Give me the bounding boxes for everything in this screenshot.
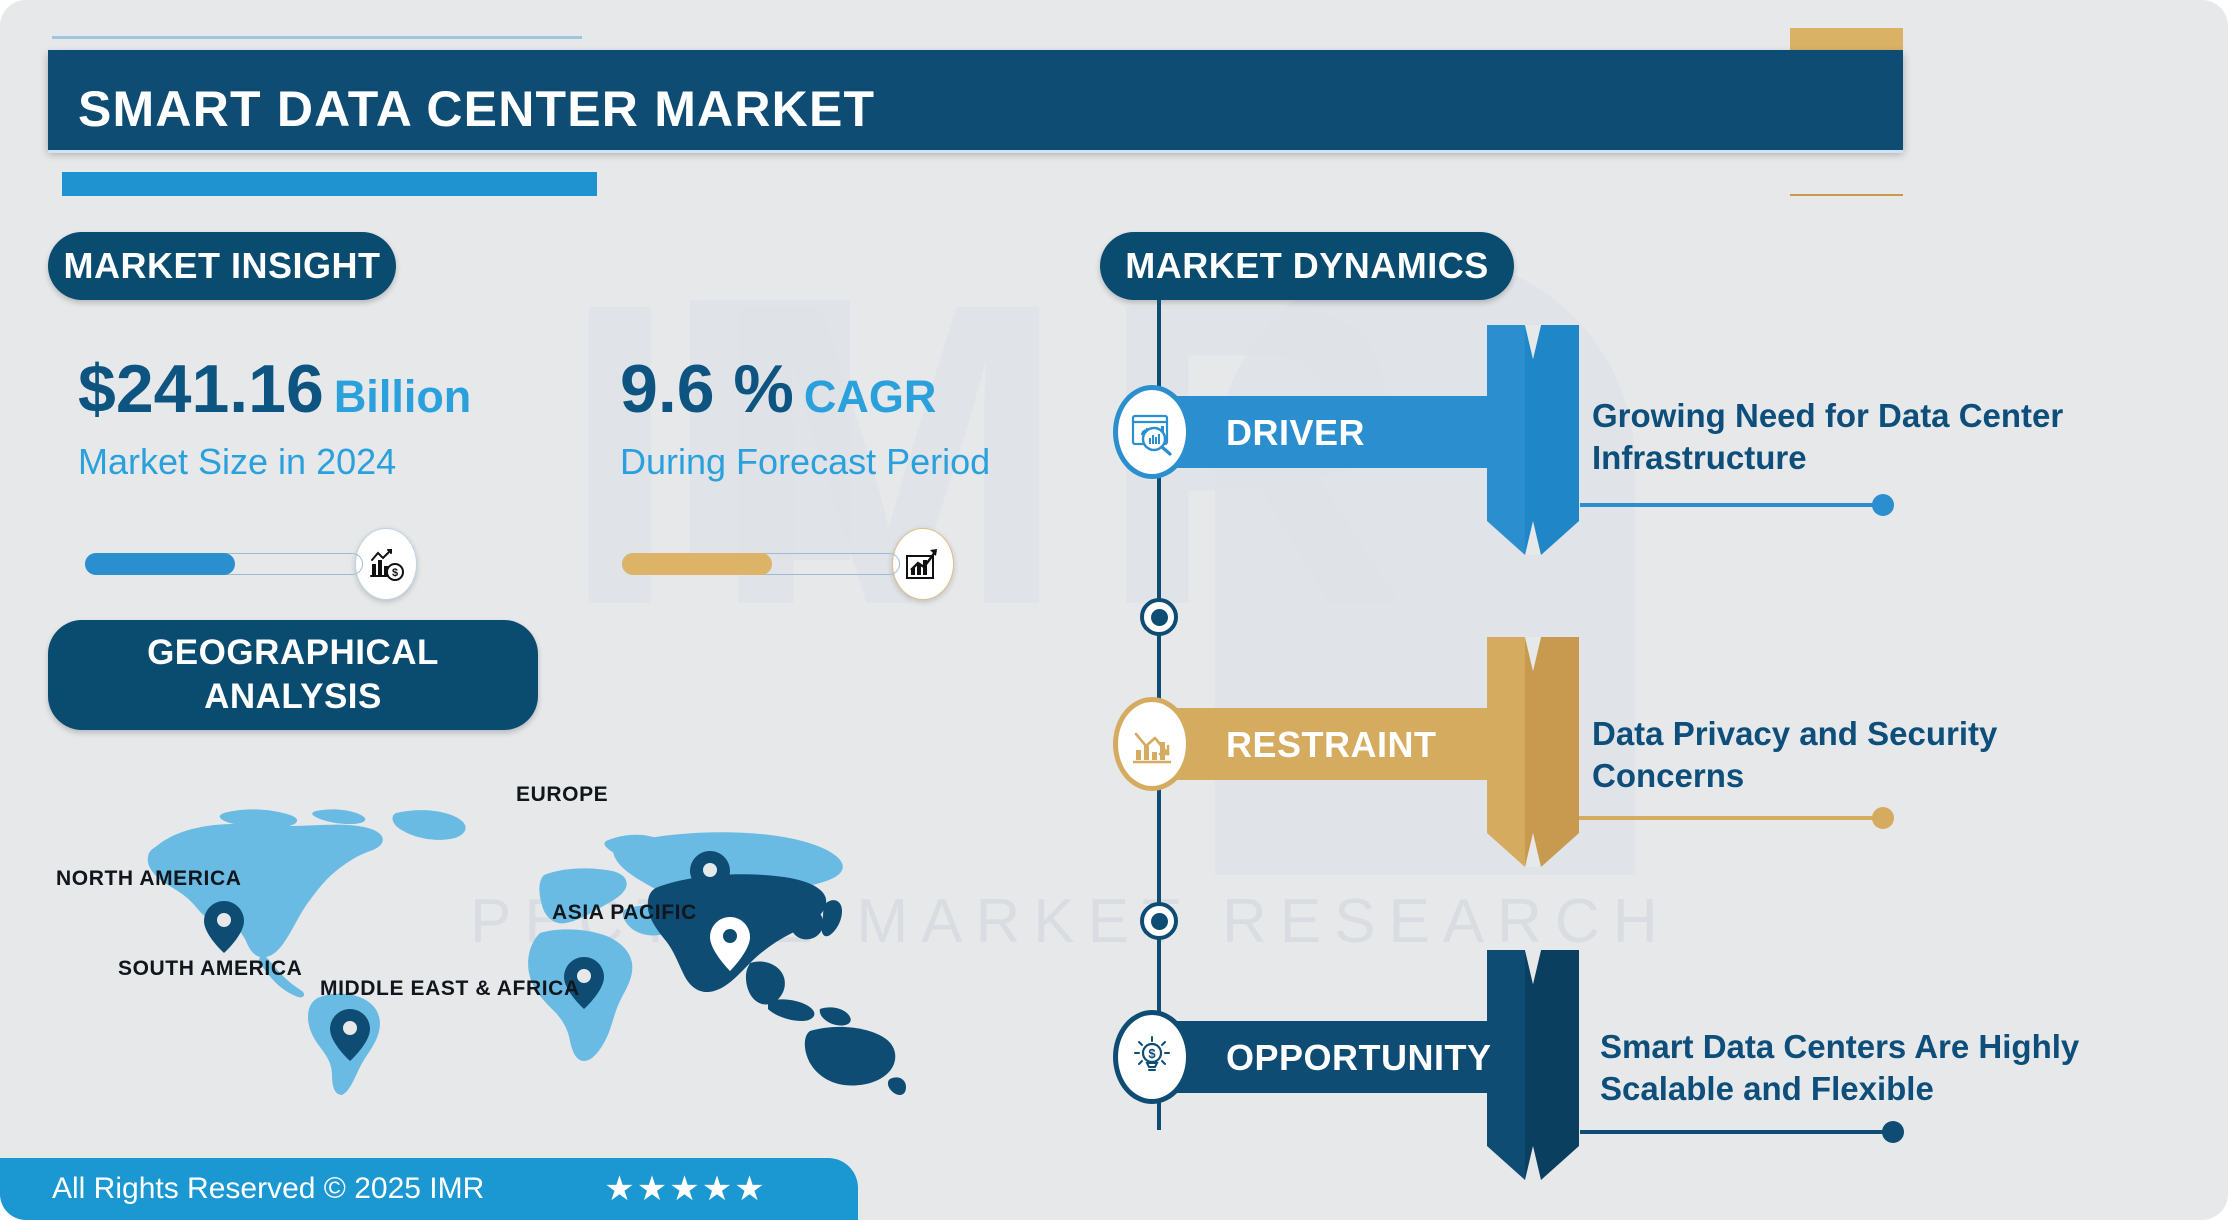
svg-text:$: $ (392, 567, 398, 579)
header-bottom-rule (48, 150, 1903, 153)
opportunity-ribbon (1487, 950, 1579, 1185)
cagr-progress-fill (622, 553, 772, 575)
restraint-ribbon (1487, 637, 1579, 872)
map-label-europe: EUROPE (516, 783, 608, 807)
driver-text: Growing Need for Data Center Infrastruct… (1592, 395, 2152, 479)
stat-market-size-caption: Market Size in 2024 (78, 441, 471, 483)
restraint-rule-dot (1872, 807, 1894, 829)
page-title: SMART DATA CENTER MARKET (78, 80, 875, 138)
header-gold-rule (1790, 194, 1903, 196)
map-label-asia-pacific: ASIA PACIFIC (552, 901, 697, 925)
map-label-middle-east-africa: MIDDLE EAST & AFRICA (320, 977, 580, 1001)
geo-chip-line1: GEOGRAPHICAL (147, 631, 439, 675)
opportunity-label: OPPORTUNITY (1226, 1037, 1492, 1079)
stat-market-size-number: $241.16 (78, 351, 324, 427)
footer-copyright: All Rights Reserved © 2025 IMR (52, 1172, 484, 1206)
market-insight-chip: MARKET INSIGHT (48, 232, 396, 300)
driver-ribbon (1487, 325, 1579, 560)
stat-market-size-unit: Billion (334, 371, 471, 422)
footer-star-rating: ★★★★★ (604, 1169, 766, 1209)
geo-chip-line2: ANALYSIS (204, 675, 382, 719)
opportunity-rule (1580, 1130, 1900, 1134)
market-dynamics-chip: MARKET DYNAMICS (1100, 232, 1514, 300)
stat-cagr: 9.6 %CAGR During Forecast Period (620, 355, 990, 483)
market-size-progress-track (85, 553, 363, 575)
stat-cagr-value: 9.6 %CAGR (620, 355, 990, 423)
header-gold-accent (1790, 28, 1903, 50)
geographical-analysis-chip: GEOGRAPHICAL ANALYSIS (48, 620, 538, 730)
opportunity-text: Smart Data Centers Are Highly Scalable a… (1600, 1026, 2160, 1110)
dashboard-magnifier-icon (1113, 385, 1191, 479)
stat-cagr-number: 9.6 % (620, 351, 794, 427)
driver-rule-dot (1872, 494, 1894, 516)
market-size-progress-fill (85, 553, 235, 575)
dynamics-spine-node-2 (1140, 902, 1178, 940)
stat-market-size-value: $241.16Billion (78, 355, 471, 423)
bar-chart-dollar-icon: $ (355, 528, 417, 600)
restraint-text: Data Privacy and Security Concerns (1592, 713, 2152, 797)
dynamics-spine-node-1 (1140, 598, 1178, 636)
stat-market-size: $241.16Billion Market Size in 2024 (78, 355, 471, 483)
opportunity-rule-dot (1882, 1121, 1904, 1143)
driver-label: DRIVER (1226, 412, 1365, 454)
stat-cagr-unit: CAGR (804, 371, 937, 422)
driver-rule (1580, 503, 1880, 507)
restraint-rule (1560, 816, 1880, 820)
market-insight-chip-label: MARKET INSIGHT (64, 245, 381, 287)
header-top-rule (52, 36, 582, 39)
cagr-progress (622, 528, 954, 600)
svg-text:$: $ (1148, 1046, 1156, 1061)
market-dynamics-chip-label: MARKET DYNAMICS (1125, 245, 1489, 287)
footer-bar: All Rights Reserved © 2025 IMR ★★★★★ (0, 1158, 858, 1220)
cagr-progress-track (622, 553, 900, 575)
infographic-canvas: IMR PECTIVE MARKET RESEARCH SMART DATA C… (0, 0, 2228, 1220)
header-underline-accent (62, 172, 597, 196)
restraint-label: RESTRAINT (1226, 724, 1437, 766)
map-label-north-america: NORTH AMERICA (56, 867, 242, 891)
stat-cagr-caption: During Forecast Period (620, 441, 990, 483)
lightbulb-dollar-icon: $ (1113, 1010, 1191, 1104)
declining-bar-chart-icon (1113, 697, 1191, 791)
map-label-south-america: SOUTH AMERICA (118, 957, 302, 981)
market-size-progress: $ (85, 528, 417, 600)
growth-chart-arrow-icon (892, 528, 954, 600)
world-map: NORTH AMERICA EUROPE ASIA PACIFIC SOUTH … (120, 805, 980, 1095)
